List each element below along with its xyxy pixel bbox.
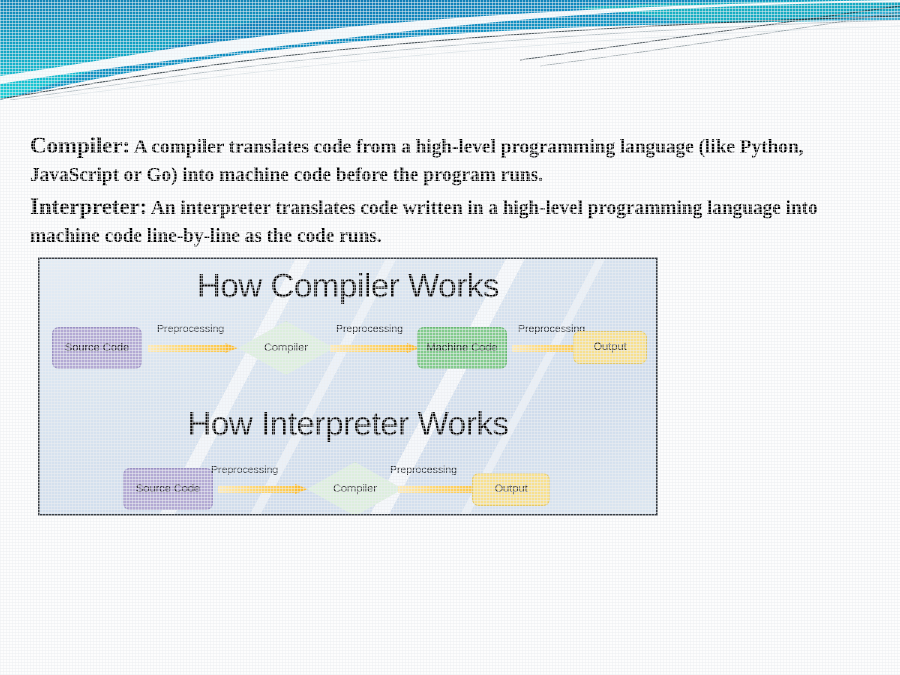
term-interpreter: Interpreter: bbox=[30, 194, 147, 219]
definition-interpreter: An interpreter translates code written i… bbox=[30, 198, 818, 247]
node-output-interpreter: Output bbox=[472, 473, 550, 506]
flow-wave-banner-icon bbox=[0, 0, 900, 100]
slide-canvas: Compiler: A compiler translates code fro… bbox=[0, 0, 900, 675]
arrow-label-preprocessing-1: Preprocessing bbox=[157, 323, 224, 335]
paragraph-compiler: Compiler: A compiler translates code fro… bbox=[30, 132, 875, 190]
node-interpreter-diamond: Compiler bbox=[307, 462, 403, 516]
diagram-title-interpreter: How Interpreter Works bbox=[40, 405, 656, 443]
arrow-label-preprocessing-5: Preprocessing bbox=[390, 464, 457, 476]
node-source-code-compiler: Source Code bbox=[52, 327, 142, 369]
diagram-title-compiler: How Compiler Works bbox=[40, 267, 656, 305]
node-source-code-interpreter: Source Code bbox=[123, 468, 213, 510]
term-compiler: Compiler: bbox=[30, 133, 130, 158]
arrow-label-preprocessing-2: Preprocessing bbox=[336, 323, 403, 335]
paragraph-interpreter: Interpreter: An interpreter translates c… bbox=[30, 193, 875, 251]
node-machine-code: Machine Code bbox=[417, 327, 507, 369]
diagram-image: How Compiler Works Source Code Preproces… bbox=[38, 257, 658, 516]
node-compiler-label: Compiler bbox=[238, 321, 334, 375]
arrow-preprocessing-4 bbox=[218, 484, 308, 495]
arrow-preprocessing-2 bbox=[330, 343, 420, 354]
slide-body-text: Compiler: A compiler translates code fro… bbox=[30, 132, 875, 251]
node-output-compiler: Output bbox=[573, 331, 647, 364]
arrow-preprocessing-1 bbox=[148, 343, 238, 354]
arrow-label-preprocessing-4: Preprocessing bbox=[211, 464, 278, 476]
node-compiler-diamond: Compiler bbox=[238, 321, 334, 375]
node-interpreter-label: Compiler bbox=[307, 462, 403, 516]
definition-compiler: A compiler translates code from a high-l… bbox=[30, 137, 803, 186]
